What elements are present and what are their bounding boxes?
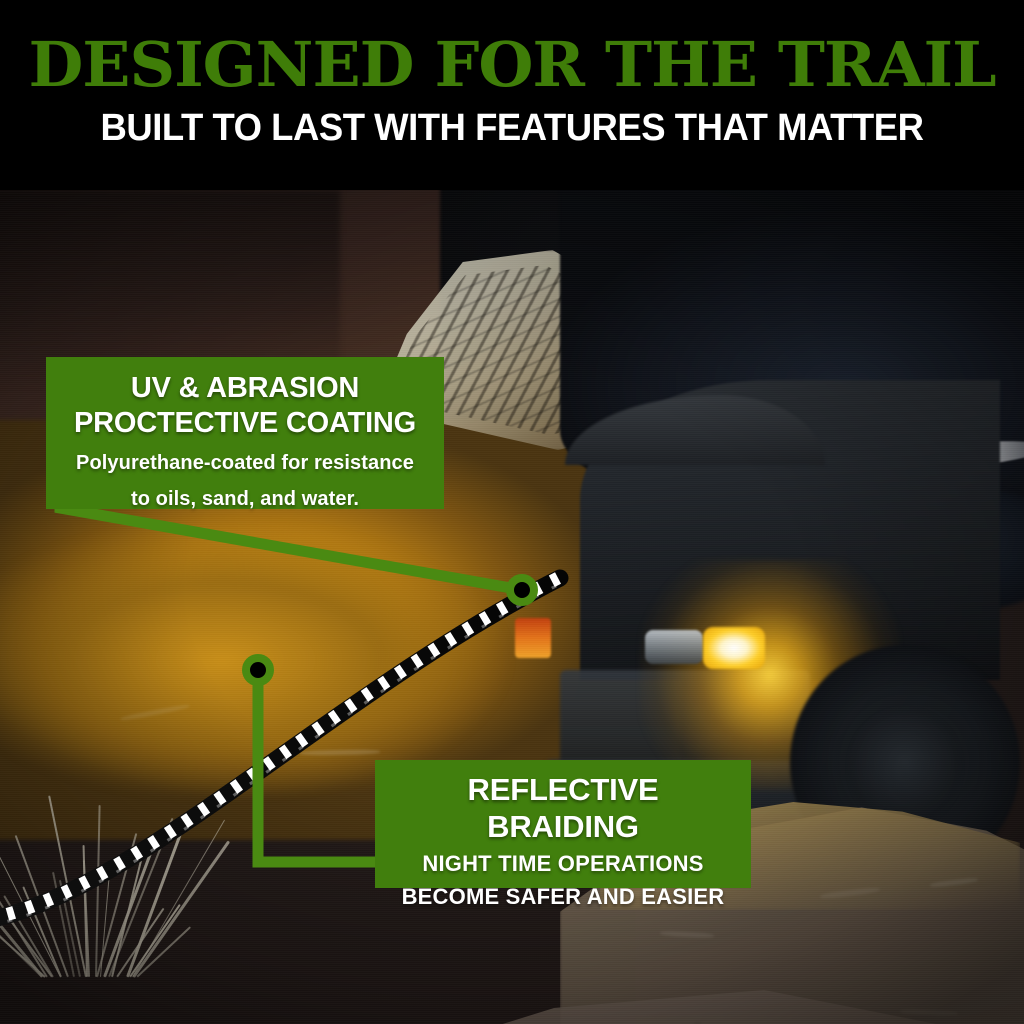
uv-abrasion-marker[interactable] [506,574,538,606]
callout-uv-title-line-2: PROCTECTIVE COATING [60,406,430,441]
callout-uv-body-line-1: Polyurethane-coated for resistance [60,450,430,477]
callout-reflective-braiding[interactable]: REFLECTIVE BRAIDING NIGHT TIME OPERATION… [375,760,751,888]
callout-uv-title-line-1: UV & ABRASION [60,371,430,406]
marketing-infographic: UV & ABRASION PROCTECTIVE COATING Polyur… [0,0,1024,1024]
callout-uv-body-line-2: to oils, sand, and water. [60,486,430,513]
header-band: DESIGNED FOR THE TRAIL BUILT TO LAST WIT… [0,0,1024,190]
reflective-braiding-marker[interactable] [242,654,274,686]
callout-braiding-body-line-1: NIGHT TIME OPERATIONS [389,850,737,878]
callout-braiding-title: REFLECTIVE BRAIDING [389,771,737,845]
page-subtitle: BUILT TO LAST WITH FEATURES THAT MATTER [20,108,1003,148]
callout-braiding-body-line-2: BECOME SAFER AND EASIER [389,883,737,911]
callout-uv-abrasion[interactable]: UV & ABRASION PROCTECTIVE COATING Polyur… [46,357,444,509]
page-title: DESIGNED FOR THE TRAIL [0,34,1024,96]
